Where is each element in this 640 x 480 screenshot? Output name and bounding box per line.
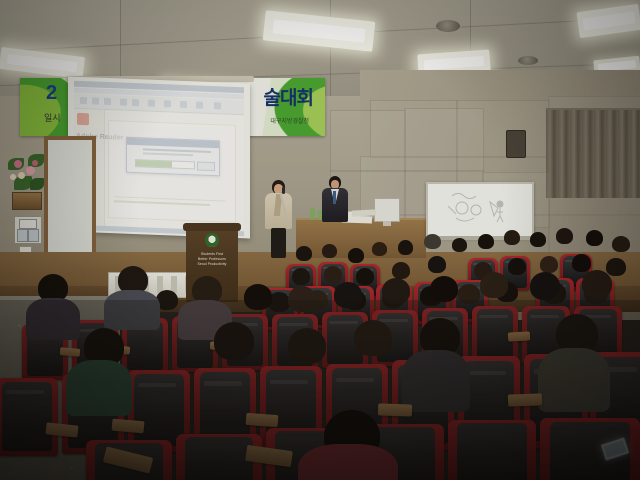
seat-armrest xyxy=(508,393,542,406)
seat-armrest xyxy=(60,347,81,357)
audience-head xyxy=(372,242,387,256)
audience-head xyxy=(334,282,362,308)
progress-bar xyxy=(135,159,195,169)
seat-armrest xyxy=(246,413,279,427)
seat-armrest xyxy=(508,331,530,341)
audience-head xyxy=(324,266,342,283)
audience-head xyxy=(348,248,364,263)
audience-head xyxy=(354,320,392,356)
audience-head xyxy=(530,272,560,300)
banner-subtitle-right: 대구지방경찰청 xyxy=(270,116,309,125)
presenter-male xyxy=(320,176,352,228)
audience-head xyxy=(296,246,312,261)
banner-subtitle-left: 일시 xyxy=(44,111,61,124)
audience-head xyxy=(606,258,626,276)
audience-body xyxy=(104,290,160,330)
audience-head xyxy=(430,276,458,302)
seat-armrest xyxy=(378,403,412,416)
wall-speaker-icon xyxy=(506,130,526,158)
audience-head xyxy=(480,272,508,298)
water-bottle xyxy=(310,208,315,220)
audience-body xyxy=(402,350,470,412)
audience-head xyxy=(504,230,520,245)
microphone-icon xyxy=(282,187,285,194)
audience-head xyxy=(478,234,494,249)
audience-head xyxy=(612,236,630,252)
projected-dialog xyxy=(126,137,220,177)
audience-head xyxy=(540,256,558,273)
auditorium-seat xyxy=(448,420,536,480)
papers-on-table xyxy=(352,209,376,216)
audience-body xyxy=(298,444,398,480)
audience-head xyxy=(214,322,254,360)
dialog-titlebar xyxy=(127,138,219,149)
audience-head xyxy=(556,228,573,244)
banner-headline: 술대회 xyxy=(264,83,313,110)
audience-head xyxy=(288,328,326,364)
audience-body xyxy=(66,360,132,416)
dialog-ok-button[interactable] xyxy=(197,161,215,171)
audience-head xyxy=(322,244,337,258)
audience-head xyxy=(530,232,546,247)
flower-basket xyxy=(12,192,42,210)
lecture-hall-photo: 2 술대회 일시 대구지방경찰청 Adobe Reader xyxy=(0,0,640,480)
audience-head xyxy=(382,278,410,304)
audience-head xyxy=(424,234,441,249)
audience-head xyxy=(288,286,316,312)
ceiling-speaker-icon xyxy=(436,20,460,32)
dialog-text-line xyxy=(143,152,193,156)
necktie xyxy=(333,191,336,204)
wall-flower-arrangement xyxy=(6,148,46,202)
audience-head xyxy=(458,284,480,304)
auditorium-seat xyxy=(0,378,58,456)
audience-body xyxy=(26,298,80,340)
audience-body xyxy=(538,348,610,412)
audience-head xyxy=(428,256,446,273)
window-curtain xyxy=(546,110,640,198)
window-recess xyxy=(546,108,640,198)
audience-head xyxy=(572,254,591,272)
audience-head xyxy=(398,240,413,255)
pdf-logo-icon xyxy=(77,113,89,125)
audience-head xyxy=(586,230,603,246)
audience-head xyxy=(452,238,467,252)
audience-seating xyxy=(0,228,640,480)
banner-number: 2 xyxy=(46,82,56,105)
audience-head xyxy=(356,268,374,285)
presenter-monitor xyxy=(374,198,400,222)
audience-head xyxy=(392,262,410,279)
audience-head xyxy=(244,284,272,310)
audience-head xyxy=(582,270,612,298)
audience-head xyxy=(292,268,310,285)
ceiling-speaker-icon xyxy=(518,56,538,65)
audience-head xyxy=(508,258,526,275)
